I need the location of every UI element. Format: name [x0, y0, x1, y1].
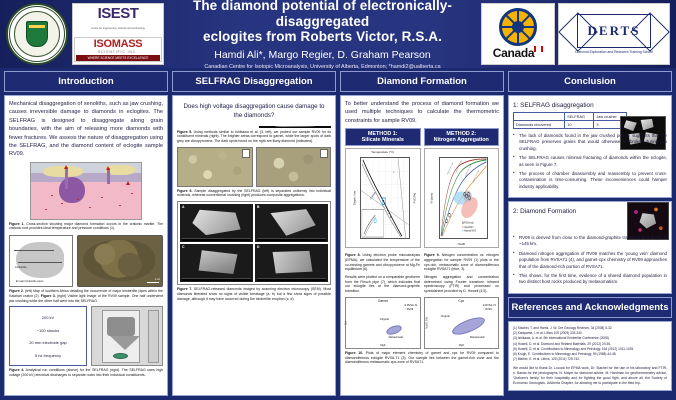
garnet-legend-2: RV09: [407, 308, 413, 311]
magnifier-inset-icon: [242, 149, 250, 158]
reference-item-1: (1) Stachel, T. and Harris, J. W. Ore Ge…: [513, 326, 667, 331]
figure-5-label: Figure 5.: [177, 130, 192, 134]
canada-flag-icon: [534, 46, 543, 52]
panel-introduction: Mechanical disaggregation of xenoliths, …: [4, 95, 168, 396]
cpx-xlabel: Mg#: [425, 344, 499, 347]
reference-item-7: (7) Mather, K. et al. Lithos, 125 (2011)…: [513, 357, 667, 362]
panel-formation: To better understand the process of diam…: [340, 95, 504, 396]
figure-8-caption: Figure 8. Using electron probe microanal…: [345, 253, 420, 294]
figure-9-label: Figure 9.: [424, 253, 440, 257]
reference-item-5: (5) Howell, D. et al. Contributions to M…: [513, 347, 667, 352]
figure-9-svg: 1050°C for 1 Gyr 1100°C for 1 Gyr 1150°C…: [440, 158, 488, 238]
reference-item-4: (4) Howell, D. et al. Diamond and Relate…: [513, 342, 667, 347]
figure-9-caption-text2: Nitrogen aggregation and concentration d…: [424, 275, 499, 294]
svg-text:RV09 (this study): RV09 (this study): [464, 221, 474, 225]
figure-8-caption-text2: Results were plotted on a comparable geo…: [345, 275, 420, 294]
poster-root: ISEST centre for engineering, science an…: [0, 0, 676, 400]
table-col-selfrag: SELFRAG: [565, 113, 594, 121]
isest-isomass-logo: ISEST centre for engineering, science an…: [72, 3, 164, 65]
figure-2-label: Figure 2.: [9, 289, 24, 293]
panel-selfrag: Does high voltage disaggregation cause d…: [172, 95, 336, 396]
conclusion-bullets-1: The lack of diamonds found in the jaw cr…: [513, 133, 667, 190]
section-heading-introduction: Introduction: [4, 71, 168, 92]
poster-affiliation: Canadian Centre for Isotopic Microanalys…: [172, 64, 473, 70]
rotary-wheel-icon: [499, 8, 537, 46]
column-conclusion: Conclusion 1: SELFRAG disaggregation SEL…: [508, 71, 672, 396]
figure-8-xlabel: Temperature (°C): [346, 150, 420, 154]
canada-rotary-logo: Canada: [481, 3, 555, 65]
figure-8-svg: Graphite A: [361, 158, 409, 238]
conclusion-bullet-2-1: RV09 is derived from close to the diamon…: [513, 235, 667, 248]
section-heading-selfrag: SELFRAG Disaggregation: [172, 71, 336, 92]
garnet-xlabel: Mg#: [346, 344, 420, 347]
figure-10-scatter-row: Garnet Cr# Mg# ■ RVSA-71 ○ RV09 Original…: [345, 297, 499, 349]
introduction-body: Mechanical disaggregation of xenoliths, …: [9, 100, 163, 159]
reference-item-2: (2) Katayama, I. et al. Lithos 109 (2009…: [513, 331, 667, 336]
table-row: Diamonds recovered 10 3: [514, 121, 627, 129]
cpx-legend: ■ RVSA-71 ○ RV09: [483, 304, 496, 312]
isomass-wordmark: ISOMASS: [94, 38, 143, 50]
acknowledgments-text: We would like to thank Dr. Locock for EP…: [513, 366, 667, 386]
svg-text:Original RVSA71: Original RVSA71: [464, 226, 473, 230]
figure-4-caption: Figure 4. Analytical run conditions (abo…: [9, 368, 163, 377]
table-header-row: SELFRAG Jaw crusher: [514, 113, 627, 121]
isomass-banner: WHERE SCIENCE MEETS EXCELLENCE: [76, 55, 160, 61]
university-of-alberta-logo: [6, 3, 68, 65]
conclusion-bullet-2-3: This shows, for the first time, evidence…: [513, 273, 667, 286]
garnet-legend: ■ RVSA-71 ○ RV09: [404, 304, 417, 312]
garnet-plot-title: Garnet: [346, 299, 420, 303]
condition-shocks: ~100 shocks: [37, 328, 60, 333]
figure-6-photos: [177, 147, 331, 187]
figure-9-ylabel: N (ppm): [429, 193, 433, 204]
figure-8-geotherm-chart: Temperature (°C) Depth / km P (GPa): [345, 148, 421, 248]
sample-scale-label: 1 cm: [155, 278, 160, 281]
figure-6-caption: Figure 6. Sample disaggregated by the SE…: [177, 189, 331, 198]
figure-10-caption-text: Plots of major element chemistry of garn…: [345, 351, 499, 364]
section-heading-formation: Diamond Formation: [340, 71, 504, 92]
figure-7-label-d: D: [257, 245, 259, 249]
figure-9-curve-label-4: 1200°C for 1 Gyr: [472, 169, 479, 184]
figure-10-caption: Figure 10. Plots of major element chemis…: [345, 351, 499, 365]
canada-wordmark: Canada: [493, 46, 544, 60]
panel-references: (1) Stachel, T. and Harris, J. W. Ore Ge…: [508, 321, 672, 391]
reference-list: (1) Stachel, T. and Harris, J. W. Ore Ge…: [513, 326, 667, 363]
cpx-data-ellipse: [450, 314, 487, 338]
figure-3-sample-photo: 1 cm: [77, 235, 163, 287]
cpx-legend-2: RV09: [485, 308, 491, 311]
isest-wordmark: ISEST: [98, 6, 139, 21]
method-headers: METHOD 1: Silicate Minerals METHOD 2: Ni…: [345, 128, 499, 146]
method-2-header: METHOD 2: Nitrogen Aggregation: [424, 128, 500, 146]
figure-1-caption: Figure 1. Cross-section showing major di…: [9, 222, 163, 231]
garnet-annotation-original: Original: [380, 318, 389, 321]
figure-7-sem-grid: A B C D: [177, 201, 331, 285]
isest-tagline: centre for engineering, science and tech…: [91, 28, 145, 31]
method-2-line2: Nitrogen Aggregation: [425, 137, 499, 143]
figure-7-label-b: B: [257, 205, 259, 209]
figure-10-label: Figure 10.: [345, 351, 363, 355]
poster-title-line1: The diamond potential of electronically-…: [172, 0, 473, 29]
figure-6-jawcrush-photo: [256, 147, 332, 187]
figure-6-label: Figure 6.: [177, 189, 192, 193]
isomass-logo: ISOMASS SCIENTIFIC INC. WHERE SCIENCE ME…: [74, 37, 162, 62]
conclusion-bullet-1-2: The SELFRAG causes minimal fracturing of…: [513, 155, 667, 168]
figure-9-curve-label-2: 1100°C for 1 Gyr: [455, 160, 462, 175]
figure-8-plot-area: Graphite A: [360, 157, 410, 239]
selfrag-question: Does high voltage disaggregation cause d…: [177, 100, 331, 123]
figure-5-rv09-map: RV09: [259, 126, 331, 128]
condition-voltage: 200 kV: [42, 315, 54, 320]
diamonds-recovered-table: SELFRAG Jaw crusher Diamonds recovered 1…: [513, 112, 627, 129]
figure-5-annotation-lines: [259, 126, 331, 128]
figure-2-3-row: Kimberlite ■ major kimberlite pipes 1 cm: [9, 235, 163, 287]
figure-2-3-caption: Figure 2. (left) Map of southern Africa …: [9, 289, 163, 303]
figure-5-mineral-maps: a b c d RV09: [177, 126, 331, 128]
figure-5-left-grid: a b c d: [177, 126, 257, 128]
panel-conclusion: 1: SELFRAG disaggregation SELFRAG Jaw cr…: [508, 95, 672, 198]
poster-title-line2: eclogites from Roberts Victor, R.S.A.: [172, 29, 473, 45]
figure-10-garnet-plot: Garnet Cr# Mg# ■ RVSA-71 ○ RV09 Original…: [345, 297, 421, 349]
figure-7-label: Figure 7.: [177, 287, 192, 291]
figure-7-label-c: C: [182, 245, 184, 249]
figure-1-label: Figure 1.: [9, 222, 24, 226]
figure-9-xlabel: %IaB: [425, 242, 499, 246]
table-col-blank: [514, 113, 565, 121]
figure-4-row: 200 kV ~100 shocks 20 mm electrode gap 5…: [9, 306, 163, 366]
cpx-ylabel: Na2O (%): [425, 317, 428, 329]
map-legend: ■ major kimberlite pipes: [16, 280, 44, 283]
poster-columns: Introduction Mechanical disaggregation o…: [0, 68, 676, 400]
run-conditions-box: 200 kV ~100 shocks 20 mm electrode gap 5…: [9, 306, 87, 366]
canada-text: Canada: [493, 46, 535, 60]
cpx-plot-title: Cpx: [425, 299, 499, 303]
map-label: Kimberlite: [15, 266, 27, 269]
condition-electrode-gap: 20 mm electrode gap: [29, 340, 67, 345]
figure-7-panel-c: C: [180, 244, 253, 282]
method-1-line2: Silicate Minerals: [346, 137, 420, 143]
column-selfrag: SELFRAG Disaggregation Does high voltage…: [172, 71, 336, 396]
svg-text:Metasomatic RVSA71: Metasomatic RVSA71: [464, 229, 476, 233]
figure-9-nitrogen-chart: N (ppm) %IaB: [424, 148, 500, 248]
derts-diamond-icon: DERTS: [577, 14, 651, 48]
derts-logo: DERTS Diamond Exploration and Research T…: [558, 3, 670, 65]
selfrag-machine-photo: [91, 306, 163, 366]
figure-8-label: Figure 8.: [345, 253, 361, 257]
derts-wordmark: DERTS: [588, 23, 641, 39]
derts-tagline: Diamond Exploration and Research Trainin…: [575, 50, 653, 54]
conclusion-bullets-2: RV09 is derived from close to the diamon…: [513, 235, 667, 286]
figure-7-panel-b: B: [255, 204, 328, 242]
garnet-ylabel: Cr#: [345, 321, 348, 325]
figure-1-cross-section: [30, 162, 142, 220]
reference-item-3: (3) Ishikawa, A. et al. 9th Internationa…: [513, 336, 667, 341]
magnifier-inset-icon-2: [320, 149, 328, 158]
figure-5-caption-text: Using methods similar to Ishikawa et al.…: [177, 130, 331, 143]
figure-6-caption-text: Sample disaggregated by the SELFRAG (lef…: [177, 189, 331, 198]
conclusion-bullet-1-3: The process of chamber disassembly and r…: [513, 171, 667, 190]
panel-conclusion-formation: 2: Diamond Formation RV09 is derived fro…: [508, 201, 672, 294]
condition-frequency: 5 hz frequency: [35, 353, 61, 358]
table-cell-selfrag-count: 10: [565, 121, 594, 129]
garnet-legend-1: RVSA-71: [407, 304, 418, 307]
conclusion-bullet-1-1: The lack of diamonds found in the jaw cr…: [513, 133, 667, 152]
column-diamond-formation: Diamond Formation To better understand t…: [340, 71, 504, 396]
figure-4-caption-text: Analytical run conditions (above) for th…: [9, 368, 163, 377]
figure-2-map: Kimberlite ■ major kimberlite pipes: [9, 235, 73, 287]
figure-9-caption: Figure 9. Nitrogen concentration vs. nit…: [424, 253, 499, 294]
method-1-header: METHOD 1: Silicate Minerals: [345, 128, 421, 146]
poster-title-block: The diamond potential of electronically-…: [164, 0, 481, 70]
figure-8-ylabel: Depth / km: [352, 191, 356, 206]
section-heading-conclusion: Conclusion: [508, 71, 672, 92]
figure-10-cpx-plot: Cpx Na2O (%) Mg# ■ RVSA-71 ○ RV09 Origin…: [424, 297, 500, 349]
reference-item-6: (6) Krogh, E. Contributions to Mineralog…: [513, 352, 667, 357]
cpx-annotation-metasomatic: Metasomatic: [470, 336, 485, 339]
figure-8-ylabel-right: P (GPa): [412, 193, 416, 204]
figure-8-9-captions: Figure 8. Using electron probe microanal…: [345, 251, 499, 294]
figure-6-selfrag-photo: [177, 147, 253, 187]
figure-1-caption-text: Cross-section showing major diamond form…: [9, 222, 163, 231]
figure-9-curve-label-1: 1050°C for 1 Gyr: [447, 161, 454, 176]
figure-9-plot-area: 1050°C for 1 Gyr 1100°C for 1 Gyr 1150°C…: [439, 157, 489, 239]
figure-4-label: Figure 4.: [9, 368, 24, 372]
column-introduction: Introduction Mechanical disaggregation o…: [4, 71, 168, 396]
conclusion-subheading-1: 1: SELFRAG disaggregation: [513, 102, 667, 109]
figure-5-caption: Figure 5. Using methods similar to Ishik…: [177, 130, 331, 144]
figure-7-caption: Figure 7. SELFRAG-released diamonds imag…: [177, 287, 331, 301]
method-charts: Temperature (°C) Depth / km P (GPa): [345, 148, 499, 248]
figure-9-legend: RV09 (this study) Original RVSA71 Metaso…: [462, 221, 476, 232]
figure-3-label: Figure 3.: [41, 294, 56, 298]
figure-7-caption-text: SELFRAG-released diamonds imaged by scan…: [177, 287, 331, 300]
isomass-tagline: SCIENTIFIC INC.: [98, 50, 138, 54]
figure-7-panel-a: A: [180, 204, 253, 242]
garnet-data-ellipse: [385, 323, 403, 336]
table-row-label: Diamonds recovered: [514, 121, 565, 129]
garnet-annotation-metasomatic: Metasomatic: [389, 336, 404, 339]
figure-7-panel-d: D: [255, 244, 328, 282]
figure-7-label-a: A: [182, 205, 184, 209]
poster-authors: Hamdi Ali*, Margo Regier, D. Graham Pear…: [172, 49, 473, 61]
formation-intro: To better understand the process of diam…: [345, 100, 499, 125]
cpx-legend-1: RVSA-71: [485, 304, 496, 307]
section-heading-references: References and Acknowledgments: [508, 297, 672, 318]
conclusion-bullet-2-2: Diamond nitrogen aggregation of RV09 mat…: [513, 251, 667, 270]
cpx-annotation-original: Original: [441, 315, 450, 318]
poster-header: ISEST centre for engineering, science an…: [0, 0, 676, 68]
